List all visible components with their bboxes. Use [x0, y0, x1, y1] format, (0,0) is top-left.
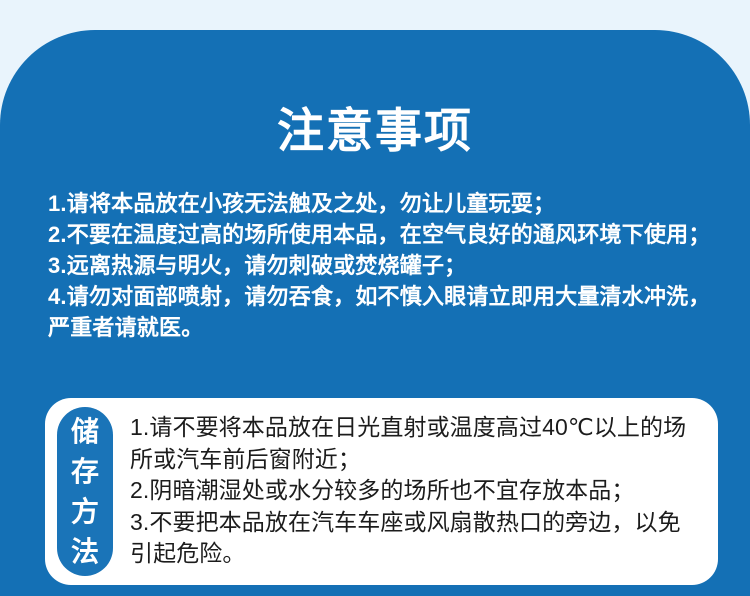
blue-panel: 注意事项 1.请将本品放在小孩无法触及之处，勿让儿童玩耍； 2.不要在温度过高的…	[0, 30, 750, 596]
storage-label-pill: 储 存 方 法	[57, 407, 113, 576]
storage-list: 1.请不要将本品放在日光直射或温度高过40℃以上的场所或汽车前后窗附近； 2.阴…	[130, 412, 700, 570]
warning-list: 1.请将本品放在小孩无法触及之处，勿让儿童玩耍； 2.不要在温度过高的场所使用本…	[48, 188, 726, 343]
warning-item: 4.请勿对面部喷射，请勿吞食，如不慎入眼请立即用大量清水冲洗，严重者请就医。	[48, 281, 726, 343]
warning-item: 1.请将本品放在小孩无法触及之处，勿让儿童玩耍；	[48, 188, 726, 219]
warning-item: 3.远离热源与明火，请勿刺破或焚烧罐子；	[48, 250, 726, 281]
storage-item: 2.阴暗潮湿处或水分较多的场所也不宜存放本品；	[130, 475, 700, 507]
notice-page: 注意事项 1.请将本品放在小孩无法触及之处，勿让儿童玩耍； 2.不要在温度过高的…	[0, 0, 750, 596]
storage-label-char: 存	[57, 452, 113, 492]
storage-card: 储 存 方 法 1.请不要将本品放在日光直射或温度高过40℃以上的场所或汽车前后…	[45, 398, 718, 585]
storage-item: 1.请不要将本品放在日光直射或温度高过40℃以上的场所或汽车前后窗附近；	[130, 412, 700, 475]
storage-item: 3.不要把本品放在汽车车座或风扇散热口的旁边，以免引起危险。	[130, 507, 700, 570]
storage-label-char: 储	[57, 412, 113, 452]
page-title: 注意事项	[0, 107, 750, 154]
storage-label-char: 方	[57, 492, 113, 532]
warning-item: 2.不要在温度过高的场所使用本品，在空气良好的通风环境下使用；	[48, 219, 726, 250]
storage-label-char: 法	[57, 532, 113, 572]
